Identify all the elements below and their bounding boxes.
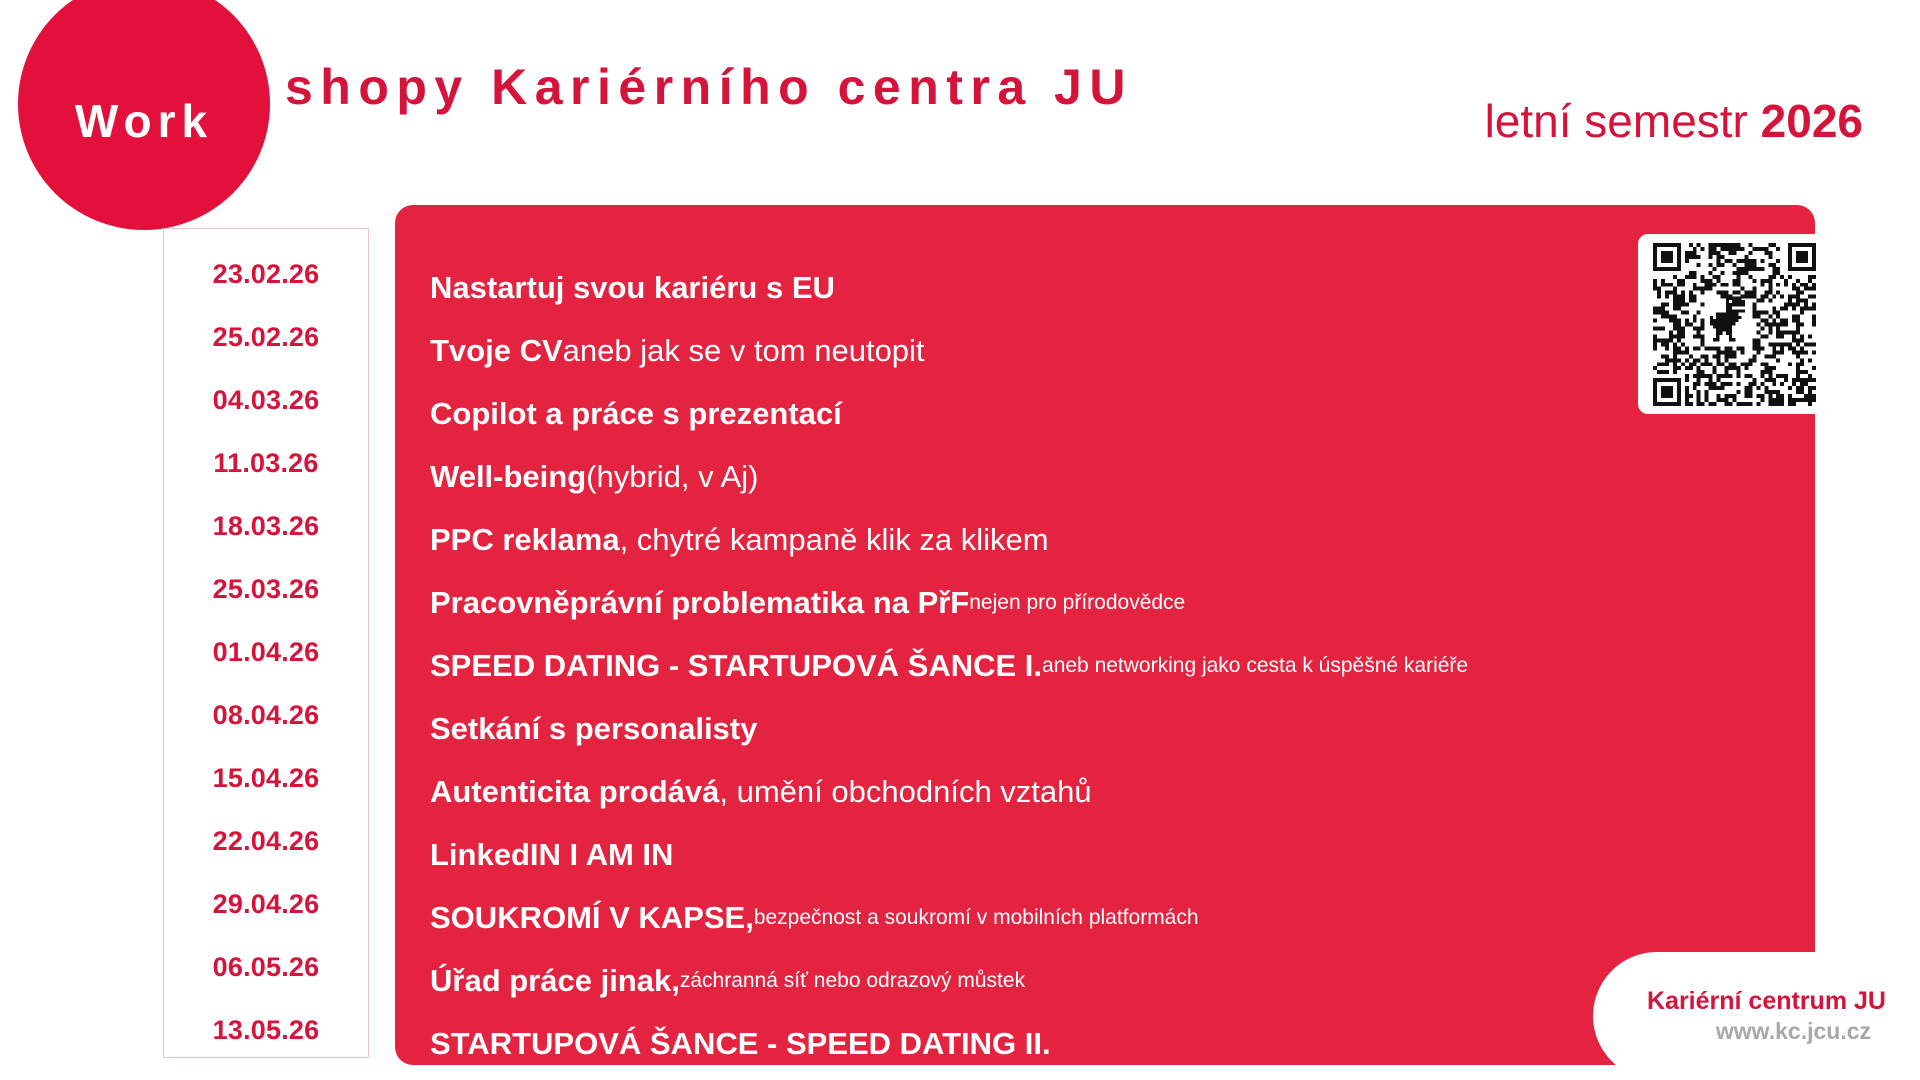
workshop-title: Úřad práce jinak, [430, 963, 680, 999]
date-cell: 25.02.26 [164, 306, 368, 369]
date-cell: 22.04.26 [164, 810, 368, 873]
career-centre-logo[interactable]: Kariérní centrum JU www.kc.jcu.cz [1593, 952, 1920, 1080]
date-cell: 29.04.26 [164, 873, 368, 936]
workshop-note: bezpečnost a soukromí v mobilních platfo… [754, 906, 1199, 930]
workshop-title: Well-being [430, 459, 586, 495]
date-cell: 04.03.26 [164, 369, 368, 432]
workshop-row: Autenticita prodává, umění obchodních vz… [430, 760, 1890, 823]
date-cell: 23.02.26 [164, 243, 368, 306]
poster-canvas: Work shopy Kariérního centra JU letní se… [0, 0, 1920, 1080]
workshop-title: Nastartuj svou kariéru s EU [430, 270, 835, 306]
workshop-title: Setkání s personalisty [430, 711, 757, 747]
semester-label: letní semestr 2026 [1485, 94, 1863, 148]
workshop-title: Tvoje CV [430, 333, 563, 369]
work-badge-label: Work [75, 94, 213, 148]
workshop-title: PPC reklama [430, 522, 620, 558]
workshop-row: SPEED DATING - STARTUPOVÁ ŠANCE I. aneb … [430, 634, 1890, 697]
semester-year: 2026 [1761, 95, 1863, 147]
workshop-row: LinkedIN I AM IN [430, 823, 1890, 886]
workshop-subtitle: aneb jak se v tom neutopit [563, 333, 925, 369]
workshop-title: LinkedIN I AM IN [430, 837, 673, 873]
logo-title: Kariérní centrum JU [1647, 987, 1920, 1016]
workshop-subtitle: (hybrid, v Aj) [586, 459, 758, 495]
date-cell: 11.03.26 [164, 432, 368, 495]
workshop-row: SOUKROMÍ V KAPSE, bezpečnost a soukromí … [430, 886, 1890, 949]
date-cell: 01.04.26 [164, 621, 368, 684]
workshop-row: Pracovněprávní problematika na PřF nejen… [430, 571, 1890, 634]
workshop-title: Copilot a práce s prezentací [430, 396, 842, 432]
date-cell: 06.05.26 [164, 936, 368, 999]
date-cell: 18.03.26 [164, 495, 368, 558]
workshop-row: Well-being (hybrid, v Aj) [430, 445, 1890, 508]
dates-column: 23.02.2625.02.2604.03.2611.03.2618.03.26… [163, 228, 369, 1058]
workshop-row: Setkání s personalisty [430, 697, 1890, 760]
date-cell: 08.04.26 [164, 684, 368, 747]
workshop-title: Autenticita prodává [430, 774, 719, 810]
workshop-note: aneb networking jako cesta k úspěšné kar… [1042, 654, 1468, 678]
qr-code-with-dinosaur-icon [1653, 243, 1816, 406]
qr-code[interactable] [1638, 234, 1831, 414]
workshop-note: nejen pro přírodovědce [969, 591, 1185, 615]
workshop-title: SPEED DATING - STARTUPOVÁ ŠANCE I. [430, 648, 1042, 684]
workshop-subtitle: , umění obchodních vztahů [719, 774, 1091, 810]
workshop-title: Pracovněprávní problematika na PřF [430, 585, 969, 621]
semester-prefix: letní semestr [1485, 95, 1761, 147]
date-cell: 13.05.26 [164, 999, 368, 1062]
workshop-row: PPC reklama, chytré kampaně klik za klik… [430, 508, 1890, 571]
date-cell: 25.03.26 [164, 558, 368, 621]
work-badge-circle: Work [18, 0, 270, 230]
workshop-subtitle: , chytré kampaně klik za klikem [620, 522, 1049, 558]
date-cell: 15.04.26 [164, 747, 368, 810]
logo-url: www.kc.jcu.cz [1647, 1018, 1920, 1045]
workshop-note: záchranná síť nebo odrazový můstek [680, 969, 1025, 993]
workshop-title: STARTUPOVÁ ŠANCE - SPEED DATING II. [430, 1026, 1051, 1062]
workshop-title: SOUKROMÍ V KAPSE, [430, 900, 754, 936]
page-title: shopy Kariérního centra JU [285, 58, 1133, 116]
header-title-line: shopy Kariérního centra JU letní semestr… [285, 58, 1905, 150]
